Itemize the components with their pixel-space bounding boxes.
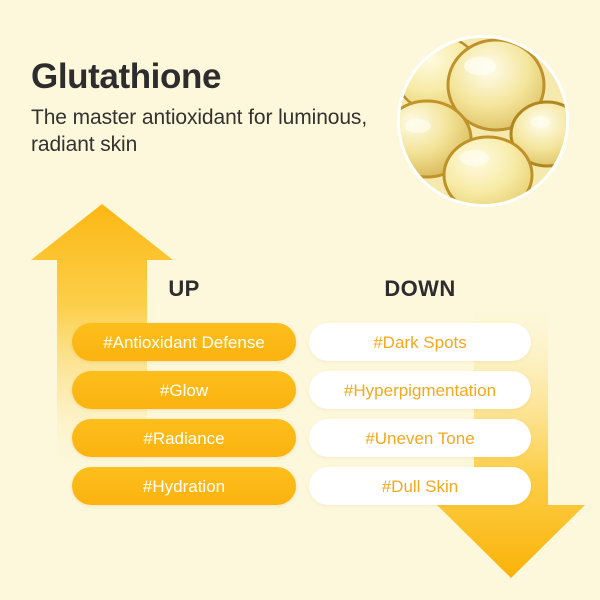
pill-down-1[interactable]: #Hyperpigmentation — [309, 371, 531, 409]
column-headings: UP DOWN — [0, 276, 600, 310]
pill-up-3[interactable]: #Hydration — [72, 467, 296, 505]
header-block: Glutathione The master antioxidant for l… — [31, 58, 381, 159]
comparison-columns: UP DOWN #Antioxidant Defense #Glow #Radi… — [0, 276, 600, 509]
column-heading-down: DOWN — [309, 276, 531, 302]
page-title: Glutathione — [31, 58, 381, 96]
pill-grid: #Antioxidant Defense #Glow #Radiance #Hy… — [0, 323, 600, 509]
pill-up-2[interactable]: #Radiance — [72, 419, 296, 457]
pill-down-0[interactable]: #Dark Spots — [309, 323, 531, 361]
pill-up-0[interactable]: #Antioxidant Defense — [72, 323, 296, 361]
page-subtitle: The master antioxidant for luminous, rad… — [31, 105, 381, 159]
glutathione-infographic: Glutathione The master antioxidant for l… — [0, 0, 600, 600]
column-heading-up: UP — [72, 276, 296, 302]
glutathione-capsules-photo — [397, 35, 569, 207]
pill-down-3[interactable]: #Dull Skin — [309, 467, 531, 505]
pill-up-1[interactable]: #Glow — [72, 371, 296, 409]
pill-down-2[interactable]: #Uneven Tone — [309, 419, 531, 457]
